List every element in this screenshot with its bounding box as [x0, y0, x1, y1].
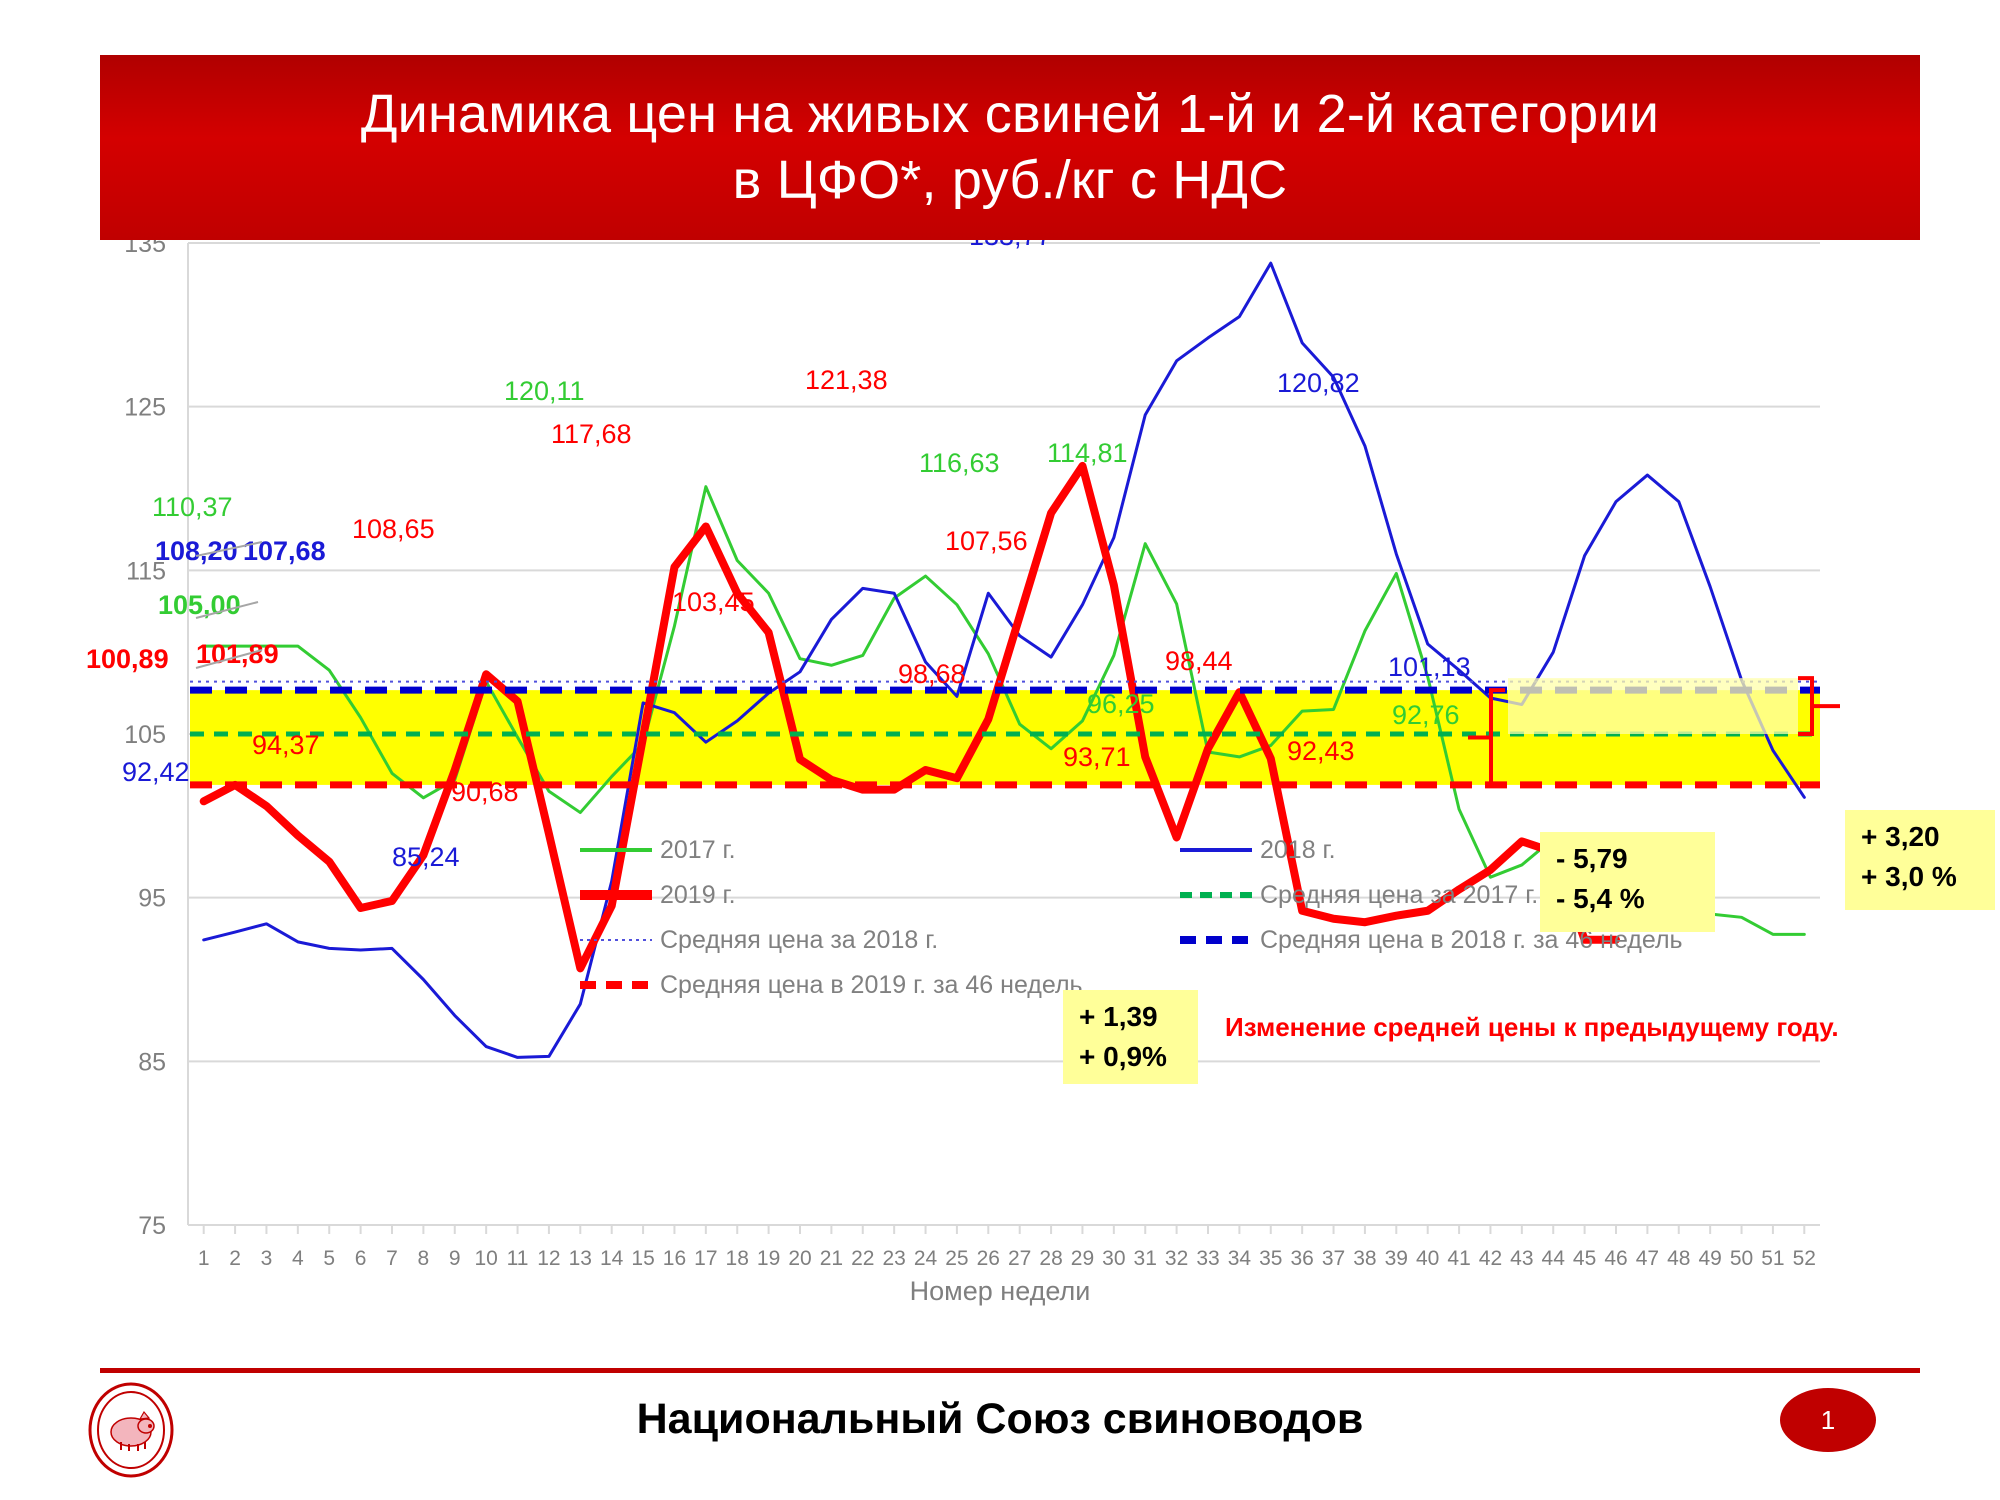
- page-title: Динамика цен на живых свиней 1-й и 2-й к…: [361, 82, 1659, 214]
- x-tick-40: 40: [1416, 1247, 1439, 1270]
- x-tick-14: 14: [600, 1247, 624, 1270]
- y-tick-135: 135: [124, 240, 166, 258]
- data-label-24: 92,43: [1287, 736, 1355, 766]
- data-label-16: 133,77: [969, 240, 1052, 251]
- x-tick-3: 3: [261, 1247, 273, 1270]
- chart-legend[interactable]: 2017 г.2018 г.2019 г.Средняя цена за 201…: [580, 836, 1683, 999]
- x-tick-44: 44: [1542, 1247, 1566, 1270]
- x-tick-52: 52: [1793, 1247, 1816, 1270]
- legend-item-2[interactable]: 2018 г.: [1180, 836, 1336, 864]
- x-tick-5: 5: [323, 1247, 335, 1270]
- data-label-3: 107,68: [243, 536, 326, 566]
- data-label-5: 100,89: [86, 644, 169, 674]
- price-dynamics-chart: 110,37108,20107,68105,00100,89101,8992,4…: [0, 240, 2000, 1350]
- data-label-25: 120,82: [1277, 368, 1360, 398]
- data-label-11: 90,68: [451, 777, 519, 807]
- data-label-21: 93,71: [1063, 742, 1131, 772]
- change-note: Изменение средней цены к предыдущему год…: [1225, 1012, 1839, 1042]
- x-tick-33: 33: [1196, 1247, 1219, 1270]
- x-tick-7: 7: [386, 1247, 398, 1270]
- x-tick-51: 51: [1761, 1247, 1784, 1270]
- legend-label-7: Средняя цена в 2019 г. за 46 недель: [660, 971, 1083, 999]
- data-label-1: 110,37: [152, 492, 233, 522]
- footer-divider: [100, 1368, 1920, 1373]
- y-tick-75: 75: [138, 1212, 166, 1240]
- legend-item-4[interactable]: Средняя цена за 2017 г.: [1180, 881, 1538, 909]
- x-tick-31: 31: [1134, 1247, 1157, 1270]
- data-label-7: 92,42: [122, 757, 190, 787]
- data-label-13: 117,68: [551, 419, 632, 449]
- title-line-1: Динамика цен на живых свиней 1-й и 2-й к…: [361, 84, 1659, 144]
- data-label-14: 103,45: [672, 587, 755, 617]
- x-tick-18: 18: [726, 1247, 749, 1270]
- data-label-20: 98,68: [898, 659, 966, 689]
- x-tick-39: 39: [1385, 1247, 1408, 1270]
- x-tick-24: 24: [914, 1247, 938, 1270]
- legend-label-4: Средняя цена за 2017 г.: [1260, 881, 1538, 909]
- data-label-17: 116,63: [919, 448, 1000, 478]
- legend-item-5[interactable]: Средняя цена за 2018 г.: [580, 926, 938, 954]
- legend-item-1[interactable]: 2017 г.: [580, 836, 736, 864]
- data-label-8: 94,37: [252, 730, 320, 760]
- x-tick-22: 22: [851, 1247, 874, 1270]
- slide-title-banner: Динамика цен на живых свиней 1-й и 2-й к…: [100, 55, 1920, 240]
- x-axis-title: Номер недели: [910, 1276, 1091, 1306]
- x-tick-10: 10: [474, 1247, 497, 1270]
- delta-2019-box: - 5,79- 5,4 %: [1540, 832, 1715, 932]
- data-label-10: 85,24: [392, 842, 460, 872]
- data-label-19: 107,56: [945, 526, 1028, 556]
- data-label-12: 120,11: [504, 376, 585, 406]
- data-label-15: 121,38: [805, 365, 888, 395]
- x-tick-4: 4: [292, 1247, 304, 1270]
- data-label-9: 108,65: [352, 514, 435, 544]
- x-tick-29: 29: [1071, 1247, 1094, 1270]
- x-tick-8: 8: [418, 1247, 430, 1270]
- delta-2017-box: + 1,39+ 0,9%: [1063, 990, 1198, 1084]
- x-tick-2: 2: [229, 1247, 241, 1270]
- x-tick-12: 12: [537, 1247, 560, 1270]
- x-tick-15: 15: [631, 1247, 654, 1270]
- data-label-26: 101,13: [1388, 652, 1471, 682]
- legend-label-3: 2019 г.: [660, 881, 736, 909]
- x-tick-43: 43: [1510, 1247, 1533, 1270]
- x-tick-37: 37: [1322, 1247, 1345, 1270]
- x-tick-45: 45: [1573, 1247, 1596, 1270]
- data-label-27: 92,76: [1392, 700, 1460, 730]
- delta-2018-box-line2: + 3,0 %: [1861, 861, 1957, 892]
- delta-2017-box-line1: + 1,39: [1079, 1001, 1158, 1032]
- x-tick-34: 34: [1228, 1247, 1252, 1270]
- x-tick-19: 19: [757, 1247, 780, 1270]
- delta-2019-box-line1: - 5,79: [1556, 843, 1628, 874]
- delta-2017-box-line2: + 0,9%: [1079, 1041, 1167, 1072]
- x-tick-6: 6: [355, 1247, 367, 1270]
- x-tick-30: 30: [1102, 1247, 1125, 1270]
- data-label-18: 114,81: [1047, 438, 1128, 468]
- x-tick-11: 11: [507, 1247, 529, 1270]
- chart-annotations: - 5,79- 5,4 %+ 3,20+ 3,0 %+ 1,39+ 0,9%Из…: [196, 542, 1995, 1084]
- data-label-22: 96,25: [1087, 689, 1155, 719]
- x-tick-9: 9: [449, 1247, 461, 1270]
- x-tick-27: 27: [1008, 1247, 1031, 1270]
- y-tick-125: 125: [124, 394, 166, 422]
- delta-2019-box-line2: - 5,4 %: [1556, 883, 1645, 914]
- x-axis-ticks: 1234567891011121314151617181920212223242…: [198, 1247, 1816, 1270]
- x-tick-35: 35: [1259, 1247, 1282, 1270]
- legend-label-1: 2017 г.: [660, 836, 736, 864]
- x-tick-1: 1: [198, 1247, 210, 1270]
- legend-item-7[interactable]: Средняя цена в 2019 г. за 46 недель: [580, 971, 1083, 999]
- x-tick-13: 13: [569, 1247, 592, 1270]
- footer-organization-name: Национальный Союз свиноводов: [0, 1395, 2000, 1444]
- x-tick-25: 25: [945, 1247, 968, 1270]
- x-tick-36: 36: [1290, 1247, 1313, 1270]
- x-tick-46: 46: [1604, 1247, 1627, 1270]
- x-tick-41: 41: [1447, 1247, 1470, 1270]
- data-label-23: 98,44: [1165, 646, 1233, 676]
- legend-item-3[interactable]: 2019 г.: [580, 881, 736, 909]
- x-tick-17: 17: [694, 1247, 717, 1270]
- x-tick-49: 49: [1698, 1247, 1721, 1270]
- x-tick-28: 28: [1039, 1247, 1062, 1270]
- y-tick-105: 105: [124, 721, 166, 749]
- y-tick-95: 95: [138, 885, 166, 913]
- x-tick-20: 20: [788, 1247, 811, 1270]
- x-tick-50: 50: [1730, 1247, 1753, 1270]
- x-tick-38: 38: [1353, 1247, 1376, 1270]
- legend-label-5: Средняя цена за 2018 г.: [660, 926, 938, 954]
- legend-label-2: 2018 г.: [1260, 836, 1336, 864]
- page-number-badge: 1: [1780, 1388, 1876, 1452]
- title-line-2: в ЦФО*, руб./кг с НДС: [733, 150, 1288, 210]
- data-label-2: 108,20: [155, 536, 238, 566]
- x-tick-26: 26: [977, 1247, 1000, 1270]
- x-tick-32: 32: [1165, 1247, 1188, 1270]
- y-tick-115: 115: [126, 557, 166, 585]
- x-tick-21: 21: [820, 1247, 843, 1270]
- x-tick-23: 23: [882, 1247, 905, 1270]
- x-tick-48: 48: [1667, 1247, 1690, 1270]
- chart-canvas: 110,37108,20107,68105,00100,89101,8992,4…: [0, 240, 2000, 1350]
- y-tick-85: 85: [138, 1048, 166, 1076]
- brace-shade: [1508, 678, 1798, 734]
- delta-2018-box: + 3,20+ 3,0 %: [1845, 810, 1995, 910]
- x-tick-47: 47: [1636, 1247, 1659, 1270]
- delta-2018-box-line1: + 3,20: [1861, 821, 1940, 852]
- y-axis-ticks: 135125115105958575: [124, 240, 166, 1240]
- x-tick-42: 42: [1479, 1247, 1502, 1270]
- data-label-4: 105,00: [158, 590, 241, 620]
- x-tick-16: 16: [663, 1247, 686, 1270]
